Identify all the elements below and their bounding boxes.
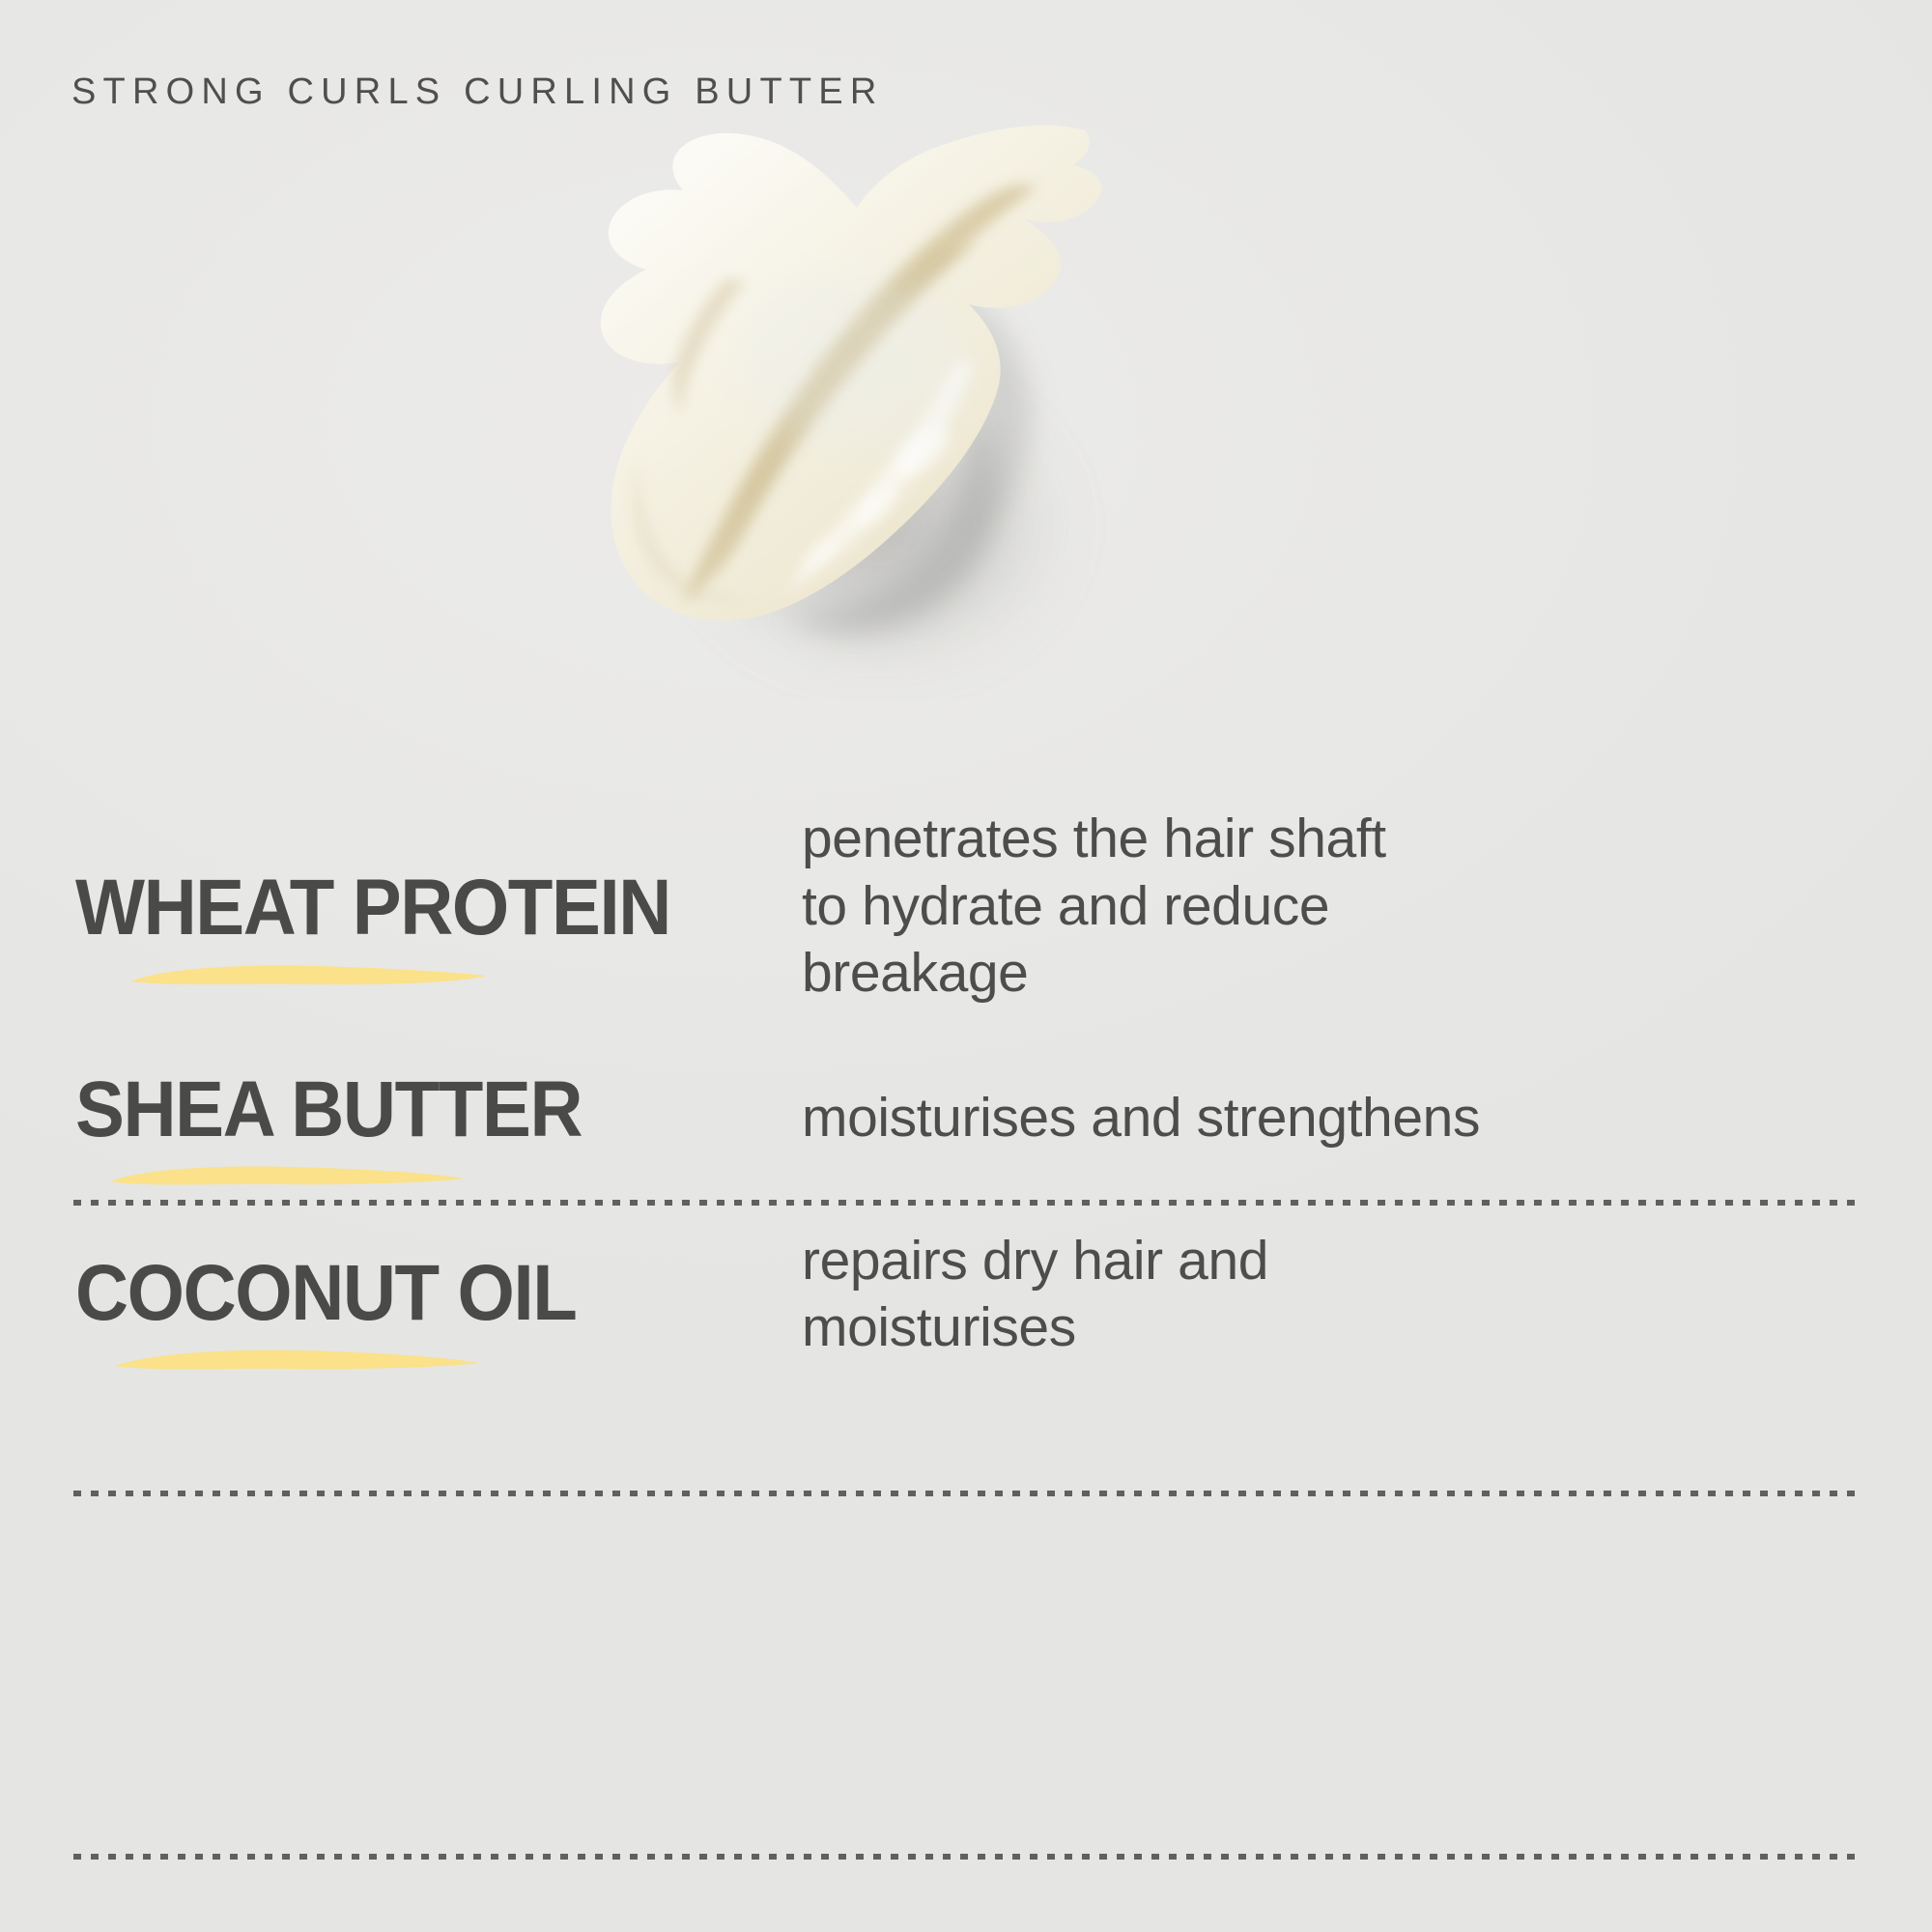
ingredient-benefit: moisturises and strengthens	[802, 1085, 1932, 1152]
ingredient-name-block: COCONUT OIL	[75, 1255, 802, 1378]
benefit-line: repairs dry hair and	[802, 1228, 1874, 1295]
yellow-brush-underline	[110, 1346, 483, 1378]
benefit-line: penetrates the hair shaft	[802, 806, 1874, 873]
ingredient-name: COCONUT OIL	[75, 1255, 751, 1332]
section-divider	[73, 1200, 1862, 1206]
ingredient-list: WHEAT PROTEIN penetrates the hair shaft …	[0, 869, 1932, 1378]
ingredient-row: COCONUT OIL repairs dry hair and moistur…	[0, 1195, 1932, 1378]
section-divider	[73, 1491, 1862, 1496]
cream-product-swatch-image	[440, 72, 1154, 700]
ingredient-row: WHEAT PROTEIN penetrates the hair shaft …	[0, 869, 1932, 1008]
ingredient-benefit: penetrates the hair shaft to hydrate and…	[802, 806, 1932, 1008]
ingredient-name: SHEA BUTTER	[75, 1071, 751, 1149]
ingredient-row: SHEA BUTTER moisturises and strengthens	[0, 1008, 1932, 1195]
ingredient-name-block: WHEAT PROTEIN	[75, 869, 802, 993]
benefit-line: moisturises	[802, 1294, 1874, 1362]
benefit-line: moisturises and strengthens	[802, 1085, 1874, 1152]
yellow-brush-underline	[106, 1162, 466, 1195]
product-ingredient-infographic: STRONG CURLS CURLING BUTTER	[0, 0, 1932, 1932]
yellow-brush-underline	[126, 960, 491, 993]
benefit-line: breakage	[802, 940, 1874, 1008]
section-divider	[73, 1854, 1862, 1860]
benefit-line: to hydrate and reduce	[802, 873, 1874, 941]
ingredient-benefit: repairs dry hair and moisturises	[802, 1228, 1932, 1362]
ingredient-name-block: SHEA BUTTER	[75, 1071, 802, 1195]
ingredient-name: WHEAT PROTEIN	[75, 869, 751, 947]
